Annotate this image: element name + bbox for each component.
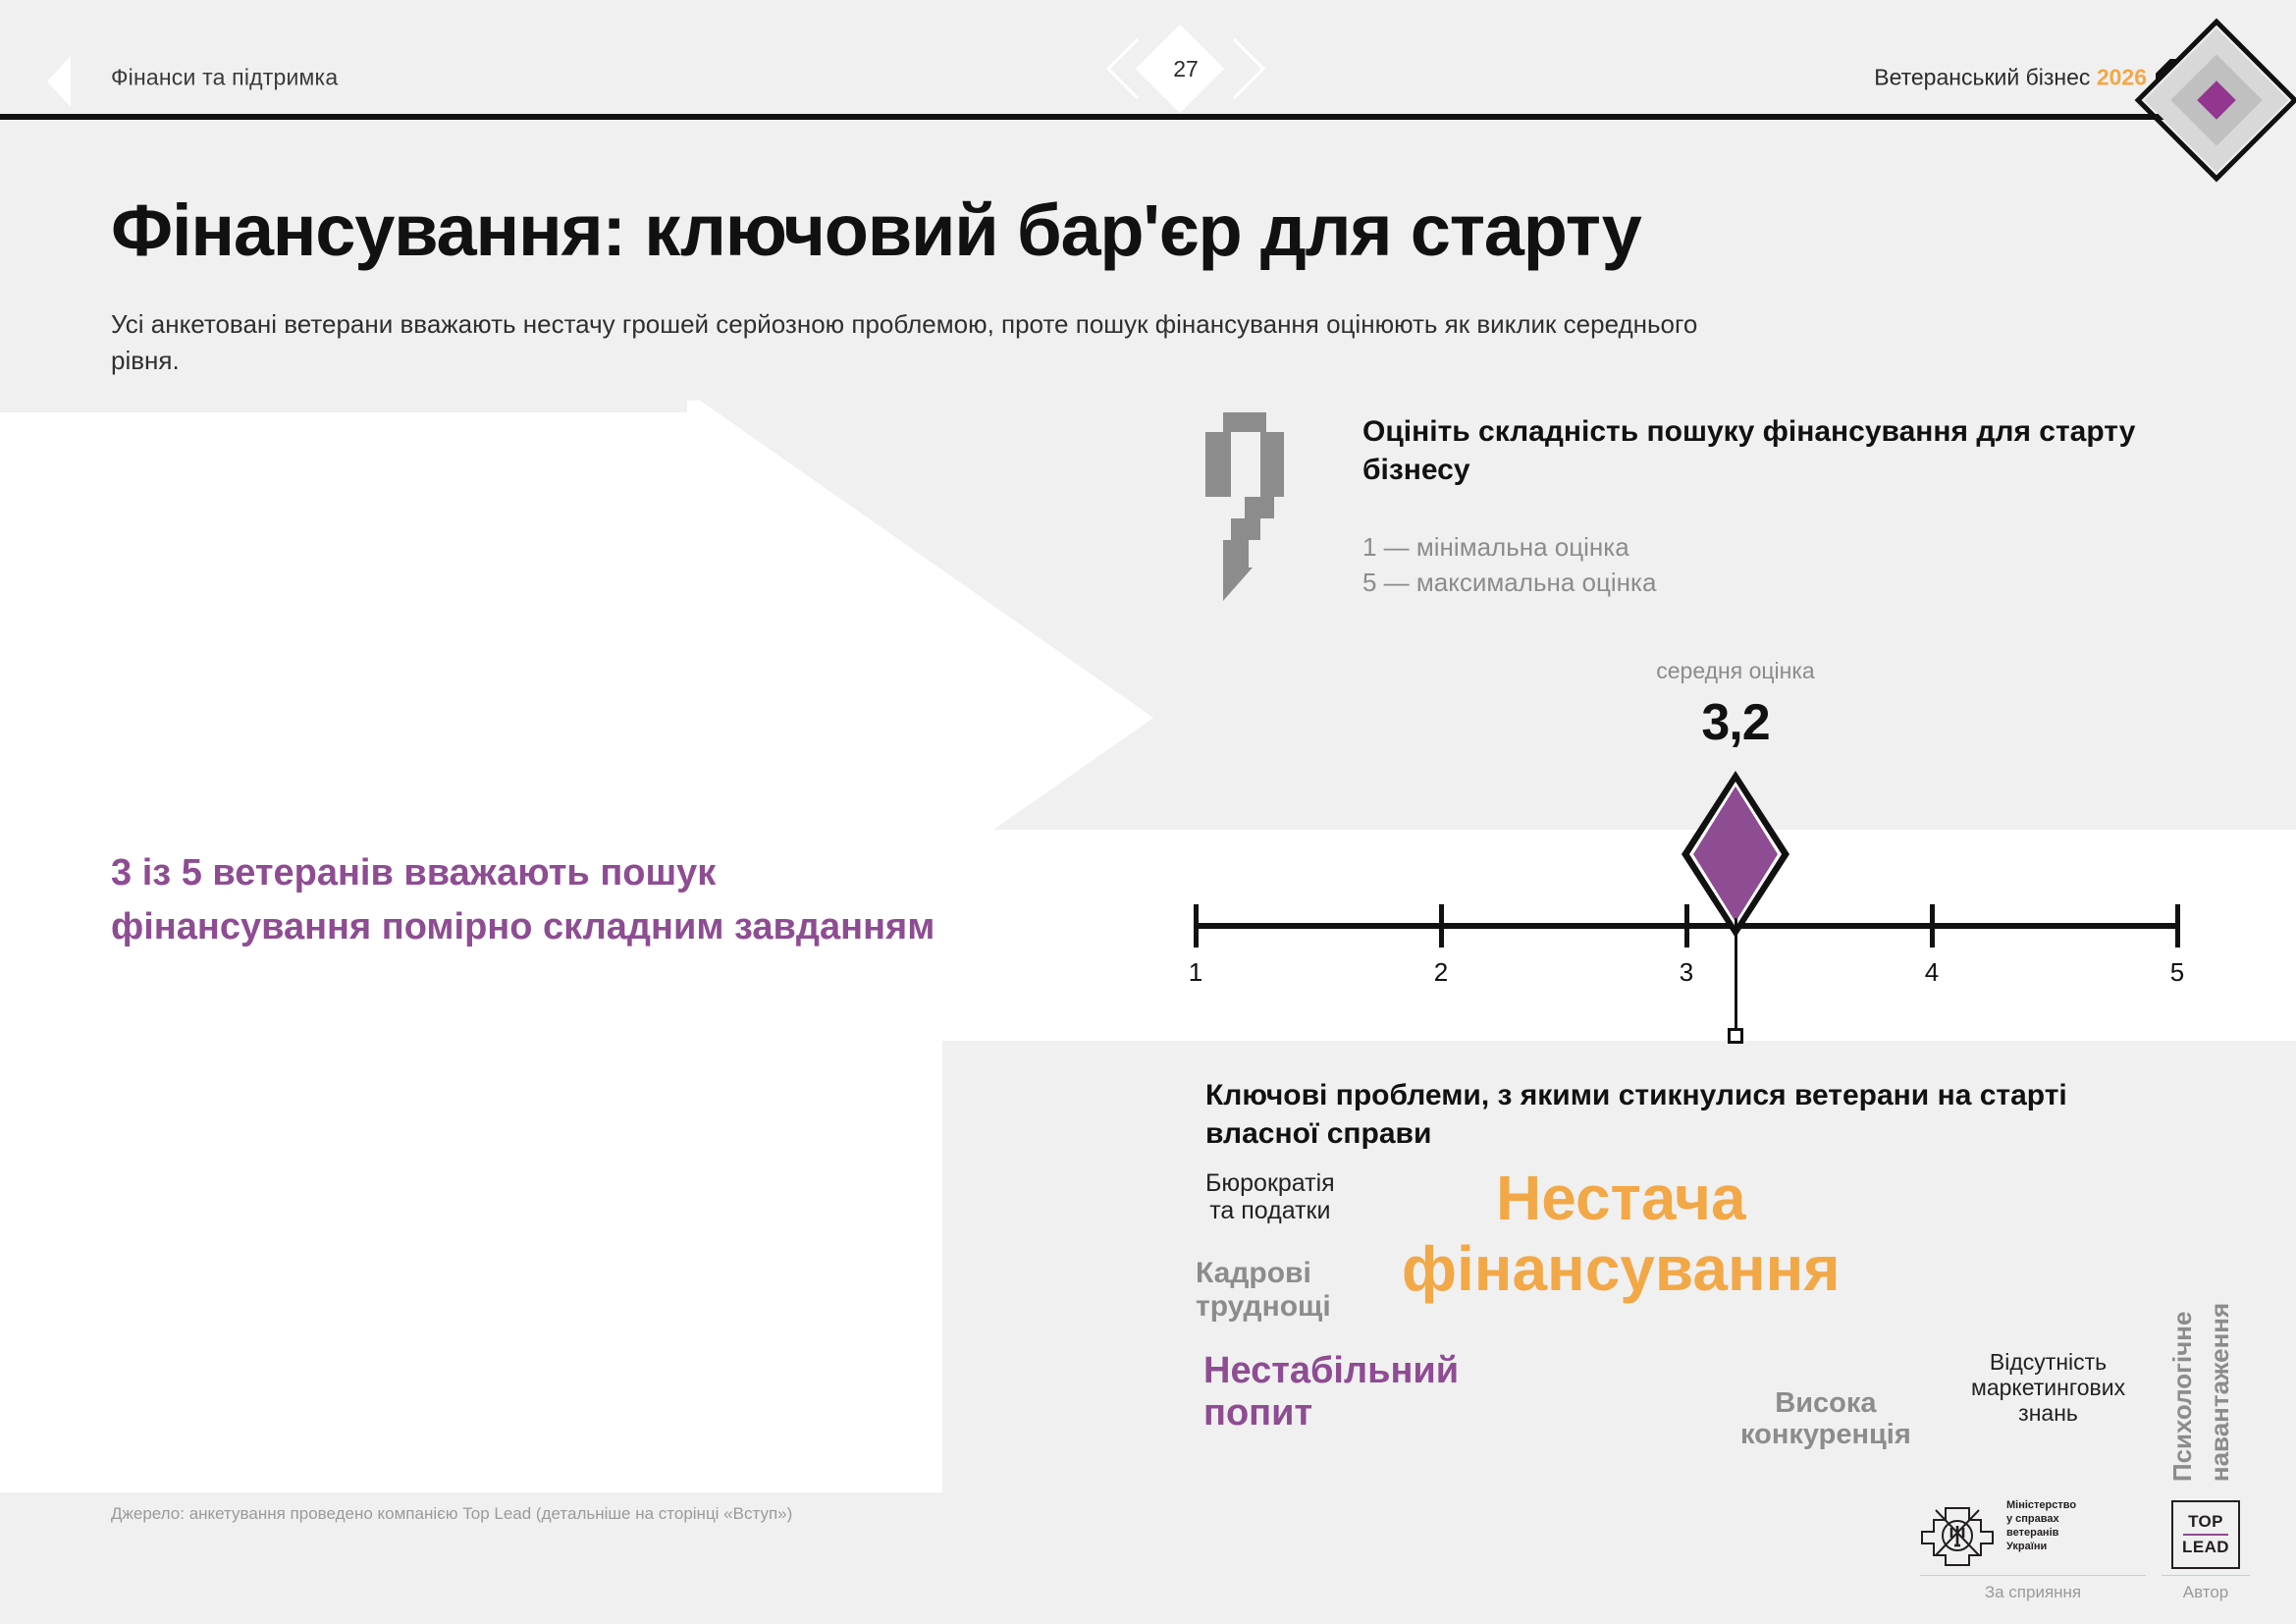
wordcloud-item-1: Кадрові труднощі: [1196, 1257, 1331, 1323]
scale-tick-label: 1: [1189, 957, 1202, 988]
page-subtitle: Усі анкетовані ветерани вважають нестачу…: [111, 306, 1760, 379]
scale-caption: середня оцінка: [1539, 658, 1932, 684]
ministry-line-3: ветеранів: [2006, 1526, 2154, 1540]
wordcloud-item-2: Нестача фінансування: [1402, 1164, 1841, 1304]
page-title: Фінансування: ключовий бар'єр для старту: [111, 192, 2192, 269]
ministry-line-1: Міністерство: [2006, 1498, 2154, 1512]
legend-max: 5 — максимальна оцінка: [1362, 566, 2050, 601]
ministry-name: Міністерство у справах ветеранів України: [2006, 1498, 2154, 1553]
question-heading: Оцініть складність пошуку фінансування д…: [1362, 412, 2207, 489]
wordcloud-item-6: Психологічне: [2168, 1312, 2197, 1483]
brand-title: Ветеранський бізнес 2026: [1874, 65, 2147, 91]
key-statement: 3 із 5 ветеранів вважають пошук фінансув…: [111, 846, 955, 955]
ministry-emblem-icon: Міністерство у справах ветеранів України: [1920, 1498, 2146, 1573]
legend-min: 1 — мінімальна оцінка: [1362, 530, 2050, 566]
page-header: Фінанси та підтримка 27 Ветеранський біз…: [0, 0, 2296, 116]
ministry-line-2: у справах: [2006, 1512, 2154, 1526]
marker-stem: [1735, 918, 1737, 1036]
header-divider: [0, 114, 2164, 120]
diamond-logo-icon: [2138, 22, 2295, 179]
ministry-line-4: України: [2006, 1540, 2154, 1553]
wordcloud-item-3: Нестабільний попит: [1203, 1350, 1459, 1434]
page-indicator: 27: [1097, 37, 1274, 100]
scale-tick: [1684, 904, 1689, 947]
scale-tick: [2175, 904, 2180, 947]
marker-fill: [1693, 786, 1778, 922]
wordcloud-item-7: навантаження: [2206, 1303, 2234, 1482]
toplead-rule: [2183, 1534, 2228, 1536]
wordcloud-item-0: Бюрократія та податки: [1205, 1169, 1335, 1224]
scale-tick: [1930, 904, 1935, 947]
wordcloud-item-5: Відсутність маркетингових знань: [1971, 1350, 2125, 1426]
back-arrow-icon[interactable]: [47, 56, 71, 107]
question-legend: 1 — мінімальна оцінка 5 — максимальна оц…: [1362, 530, 2050, 601]
wordcloud: Бюрократія та податкиКадрові труднощіНес…: [1196, 1164, 2246, 1478]
toplead-top-text: TOP: [2188, 1512, 2223, 1532]
scale-tick-label: 5: [2170, 957, 2184, 988]
toplead-caption: Автор: [2162, 1575, 2250, 1602]
scale-tick-label: 2: [1434, 957, 1448, 988]
section-label: Фінанси та підтримка: [111, 65, 338, 91]
rating-scale: середня оцінка 3,2 12345: [1196, 658, 2177, 1021]
toplead-bottom-text: LEAD: [2182, 1538, 2229, 1557]
ministry-caption: За сприяння: [1920, 1575, 2146, 1602]
source-note: Джерело: анкетування проведено компанією…: [111, 1502, 994, 1527]
ministry-crest-svg: [1920, 1498, 1995, 1573]
scale-tick: [1194, 904, 1199, 947]
scale-tick-label: 4: [1925, 957, 1939, 988]
scale-average-value: 3,2: [1539, 693, 1932, 752]
wordcloud-heading: Ключові проблеми, з якими стикнулися вет…: [1205, 1076, 2167, 1153]
scale-tick-label: 3: [1680, 957, 1693, 988]
footer-logos: Міністерство у справах ветеранів України…: [1904, 1485, 2296, 1612]
logo-diamond-outline: [2135, 19, 2296, 183]
brand-name: Ветеранський бізнес: [1874, 65, 2090, 90]
question-mark-icon: [1205, 412, 1304, 599]
background-white-lower: [0, 1031, 942, 1492]
scale-tick: [1439, 904, 1444, 947]
wordcloud-item-4: Висока конкуренція: [1740, 1387, 1911, 1451]
marker-foot: [1728, 1028, 1743, 1044]
toplead-logo-icon: TOP LEAD: [2171, 1500, 2240, 1569]
page-number: 27: [1097, 37, 1274, 100]
